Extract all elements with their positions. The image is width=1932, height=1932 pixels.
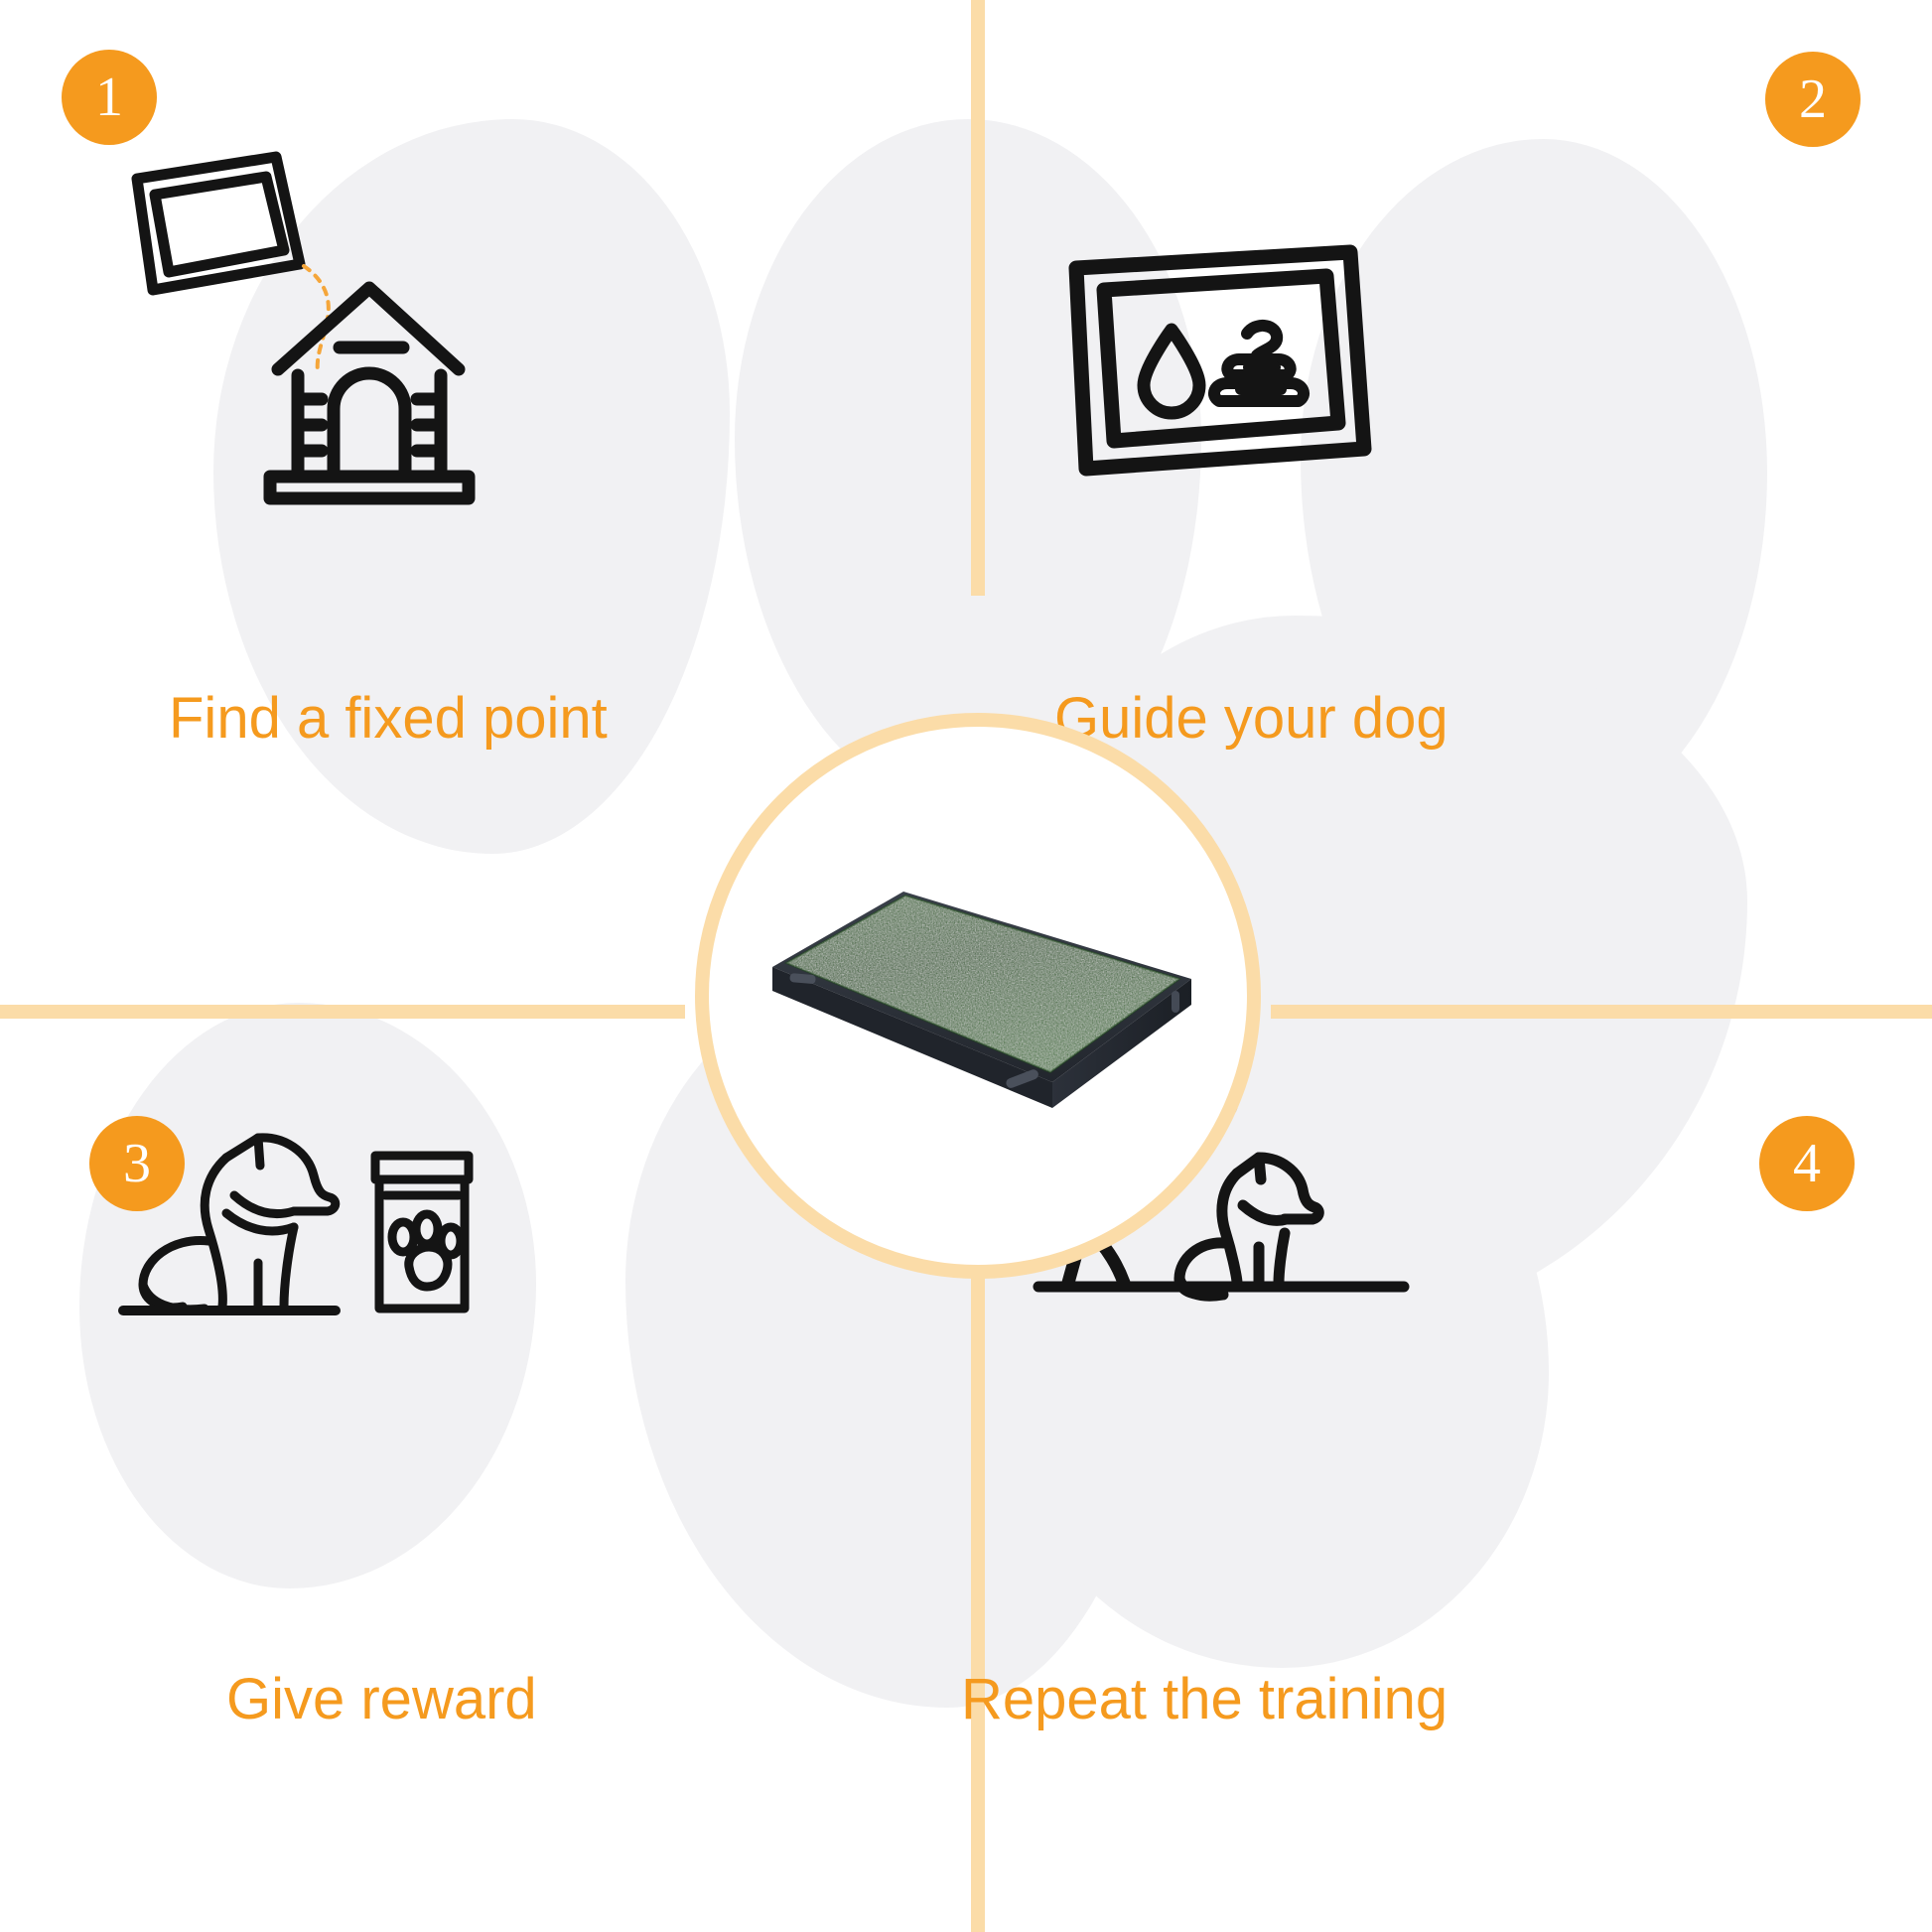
pee-and-poop-sign-icon: [1052, 238, 1380, 496]
step-badge-1: 1: [62, 50, 157, 145]
step-caption-2: Guide your dog: [1054, 685, 1449, 752]
sitting-dog-and-treat-bag-icon: [109, 1122, 566, 1340]
divider-horizontal-left: [0, 1005, 685, 1019]
step-caption-4: Repeat the training: [961, 1666, 1448, 1732]
infographic-canvas: 1 Find a fixed point 2: [0, 0, 1932, 1932]
step-caption-3: Give reward: [226, 1666, 537, 1732]
product-image: [755, 784, 1201, 1122]
divider-vertical-top: [971, 0, 985, 596]
step-caption-1: Find a fixed point: [169, 685, 608, 752]
grass-potty-pad-illustration: [755, 784, 1201, 1122]
step-badge-2: 2: [1765, 52, 1861, 147]
pee-pad-and-dog-house-icon: [109, 139, 526, 516]
step-badge-4: 4: [1759, 1116, 1855, 1211]
